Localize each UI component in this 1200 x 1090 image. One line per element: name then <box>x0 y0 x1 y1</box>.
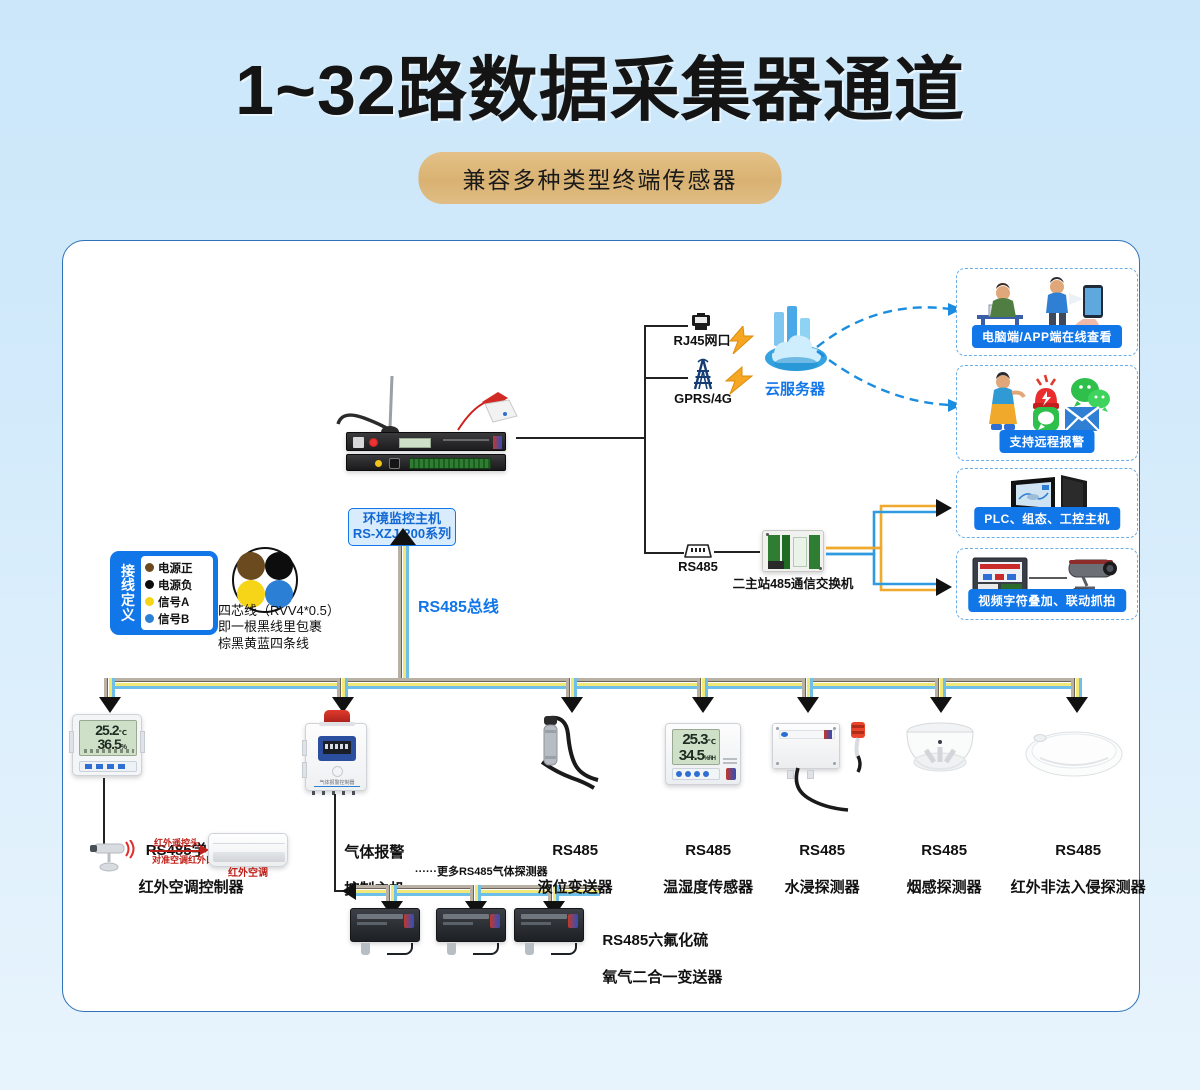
water-leak-detector-image <box>772 723 840 769</box>
rs485-to-switch-line <box>714 551 760 553</box>
temp-hum-sensor-image: 25.3℃ 34.5%RH <box>665 723 741 785</box>
rs485-branch-line <box>644 552 684 554</box>
ir-remote-head-icon <box>90 840 138 874</box>
bus-drop-arrow-5 <box>797 697 819 713</box>
rj45-branch-line <box>644 325 688 327</box>
gas-alarm-face-text: 气体报警控制器 <box>306 779 368 786</box>
legend-dot-brown <box>145 563 154 572</box>
bus-drop-arrow-6 <box>930 697 952 713</box>
cloud-to-results-arrows <box>815 295 975 425</box>
bus-drop-6 <box>935 678 946 699</box>
gas-host-dropline <box>334 794 336 890</box>
gas-host-dropline-arrow <box>342 882 356 900</box>
cable-core-black <box>265 552 293 580</box>
comm-switch-image <box>762 530 824 572</box>
ir-intrusion-detector-image <box>1022 728 1126 780</box>
cable-note: 四芯线（RVV4*0.5） 即一根黑线里包裹 棕黑黄蓝四条线 <box>218 603 340 652</box>
remote-alarm-illustration <box>967 371 1127 435</box>
bus-label: RS485总线 <box>418 598 499 618</box>
bus-drop-5 <box>802 678 813 699</box>
result-caption-plc: PLC、组态、工控主机 <box>974 507 1120 530</box>
bus-drop-1 <box>104 678 115 699</box>
smoke-detector-label: RS485 烟感探测器 <box>898 823 981 898</box>
ir-aim-note: 对准空调红外口 <box>152 855 215 866</box>
bus-drop-4 <box>697 678 708 699</box>
ir-remote-head-label: 红外遥控头 <box>154 838 199 849</box>
result-box-plc[interactable]: PLC、组态、工控主机 <box>956 468 1138 538</box>
rs485-uplink-label: RS485 <box>678 559 718 575</box>
ir-arrow <box>150 850 202 852</box>
bus-riser-arrow <box>390 528 416 545</box>
lightning-icon-bottom <box>722 365 758 395</box>
legend-dot-blue <box>145 614 154 623</box>
rj45-icon <box>688 313 714 333</box>
result-caption-pc-app: 电脑端/APP端在线查看 <box>972 325 1122 348</box>
bus-drop-arrow-3 <box>561 697 583 713</box>
ir-head-cable <box>103 778 105 844</box>
bus-drop-arrow-4 <box>692 697 714 713</box>
gas-more-note: ······更多RS485气体探测器 <box>415 866 548 880</box>
rs485-port-icon <box>682 543 714 559</box>
legend-row-power-neg: 电源负 <box>145 577 209 593</box>
host-trunk-line <box>516 437 644 439</box>
gprs-branch-line <box>644 377 688 379</box>
switch-to-results-lines <box>826 498 956 598</box>
wiring-legend: 接线定义 电源正 电源负 信号A 信号B <box>110 551 218 635</box>
level-transmitter-label: RS485 液位变送器 <box>529 823 612 898</box>
lightning-icon-top <box>727 326 757 354</box>
legend-dot-black <box>145 580 154 589</box>
water-leak-probe <box>845 722 871 774</box>
legend-row-power-pos: 电源正 <box>145 560 209 576</box>
level-transmitter-image <box>528 712 610 800</box>
bus-drop-3 <box>566 678 577 699</box>
legend-row-signal-b: 信号B <box>145 611 209 627</box>
air-conditioner-label: 红外空调 <box>228 868 268 881</box>
temp-hum-sensor-label: RS485 温湿度传感器 <box>655 823 753 898</box>
bus-drop-arrow-1 <box>99 697 121 713</box>
sf6-transmitter-1 <box>350 908 420 942</box>
result-caption-video: 视频字符叠加、联动抓拍 <box>968 589 1126 612</box>
wiring-legend-title: 接线定义 <box>115 556 141 630</box>
subtitle-pill: 兼容多种类型终端传感器 <box>419 152 782 204</box>
gprs-tower-icon <box>686 355 720 393</box>
smoke-detector-image <box>898 720 982 782</box>
cable-core-brown <box>237 552 265 580</box>
result-box-video[interactable]: 视频字符叠加、联动抓拍 <box>956 548 1138 620</box>
water-leak-detector-label: RS485 水浸探测器 <box>776 823 859 898</box>
legend-row-signal-a: 信号A <box>145 594 209 610</box>
sf6-transmitter-2 <box>436 908 506 942</box>
sf6-transmitter-3 <box>514 908 584 942</box>
page-title: 1~32路数据采集器通道 <box>0 34 1200 135</box>
temp-hum-hum-value: 34.5%RH <box>679 747 715 764</box>
bus-riser <box>398 546 409 686</box>
uplink-trunk <box>644 325 646 553</box>
bus-drop-7 <box>1071 678 1082 699</box>
host-device-image <box>330 372 520 482</box>
sf6-label: RS485六氟化硫 氧气二合一变送器 <box>594 913 722 988</box>
bus-drop-2 <box>337 678 348 699</box>
ir-ac-controller-image: 25.2℃ 36.5% <box>72 714 142 776</box>
legend-dot-yellow <box>145 597 154 606</box>
rj45-label: RJ45网口 <box>673 333 730 349</box>
result-caption-remote-alarm: 支持远程报警 <box>999 430 1094 453</box>
temp-hum-temp-value: 25.3℃ <box>682 731 715 748</box>
result-box-pc-app[interactable]: 电脑端/APP端在线查看 <box>956 268 1138 356</box>
gas-alarm-host-image: 气体报警控制器 <box>305 723 367 791</box>
air-conditioner-image <box>208 833 288 867</box>
result-box-remote-alarm[interactable]: 支持远程报警 <box>956 365 1138 461</box>
bus-drop-arrow-7 <box>1066 697 1088 713</box>
ir-intrusion-detector-label: RS485 红外非法入侵探测器 <box>1002 823 1145 898</box>
